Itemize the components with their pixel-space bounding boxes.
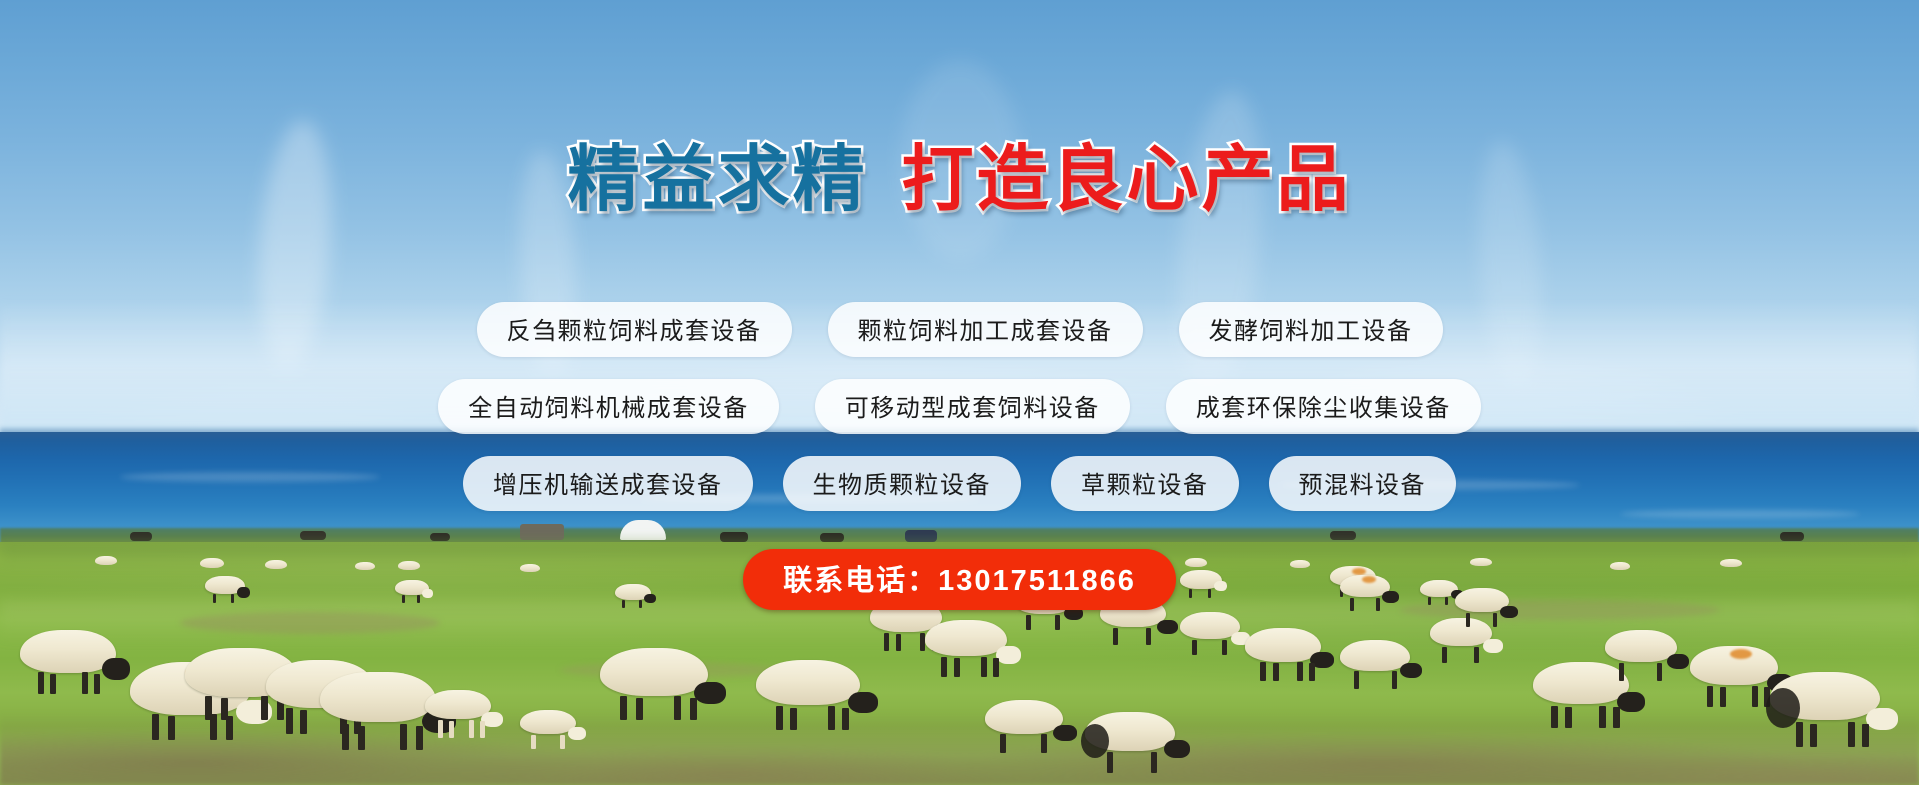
product-tag[interactable]: 增压机输送成套设备 — [463, 456, 753, 511]
product-tag[interactable]: 反刍颗粒饲料成套设备 — [477, 302, 792, 357]
sheep — [20, 630, 116, 692]
product-tag[interactable]: 成套环保除尘收集设备 — [1166, 379, 1481, 434]
dirt-patch — [180, 612, 440, 634]
distant-livestock — [720, 532, 748, 542]
distant-livestock — [430, 533, 450, 541]
product-tag-list: 反刍颗粒饲料成套设备 颗粒饲料加工成套设备 发酵饲料加工设备 全自动饲料机械成套… — [0, 302, 1919, 533]
distant-livestock — [130, 532, 152, 541]
sheep — [1690, 646, 1778, 702]
tag-row: 全自动饲料机械成套设备 可移动型成套饲料设备 成套环保除尘收集设备 — [0, 379, 1919, 434]
sheep — [1180, 612, 1240, 650]
distant-livestock — [1780, 532, 1804, 541]
sheep — [1605, 630, 1677, 676]
banner-headline: 精益求精打造良心产品 — [0, 144, 1919, 216]
sheep — [1340, 640, 1410, 684]
contact-phone-bar: 联系电话：13017511866 — [0, 549, 1919, 610]
contact-phone-button[interactable]: 联系电话：13017511866 — [743, 549, 1176, 610]
sheep — [925, 620, 1007, 672]
sheep — [425, 690, 491, 732]
sheep — [756, 660, 860, 724]
product-tag[interactable]: 草颗粒设备 — [1051, 456, 1239, 511]
product-tag[interactable]: 发酵饲料加工设备 — [1179, 302, 1443, 357]
sheep — [320, 672, 436, 744]
sheep — [600, 648, 708, 716]
distant-livestock — [820, 533, 844, 542]
sheep — [1770, 672, 1880, 740]
sheep — [1430, 618, 1492, 658]
tag-row: 反刍颗粒饲料成套设备 颗粒饲料加工成套设备 发酵饲料加工设备 — [0, 302, 1919, 357]
sheep — [520, 710, 576, 744]
sheep — [1245, 628, 1321, 676]
tag-row: 增压机输送成套设备 生物质颗粒设备 草颗粒设备 预混料设备 — [0, 456, 1919, 511]
sheep — [1085, 712, 1175, 768]
banner-stage: 精益求精打造良心产品 反刍颗粒饲料成套设备 颗粒饲料加工成套设备 发酵饲料加工设… — [0, 0, 1919, 785]
product-tag[interactable]: 可移动型成套饲料设备 — [815, 379, 1130, 434]
headline-secondary: 打造良心产品 — [902, 144, 1352, 216]
headline-primary: 精益求精 — [567, 144, 867, 216]
product-tag[interactable]: 预混料设备 — [1269, 456, 1457, 511]
product-tag[interactable]: 生物质颗粒设备 — [783, 456, 1022, 511]
product-tag[interactable]: 全自动饲料机械成套设备 — [438, 379, 779, 434]
sheep — [985, 700, 1063, 748]
product-tag[interactable]: 颗粒饲料加工成套设备 — [828, 302, 1143, 357]
